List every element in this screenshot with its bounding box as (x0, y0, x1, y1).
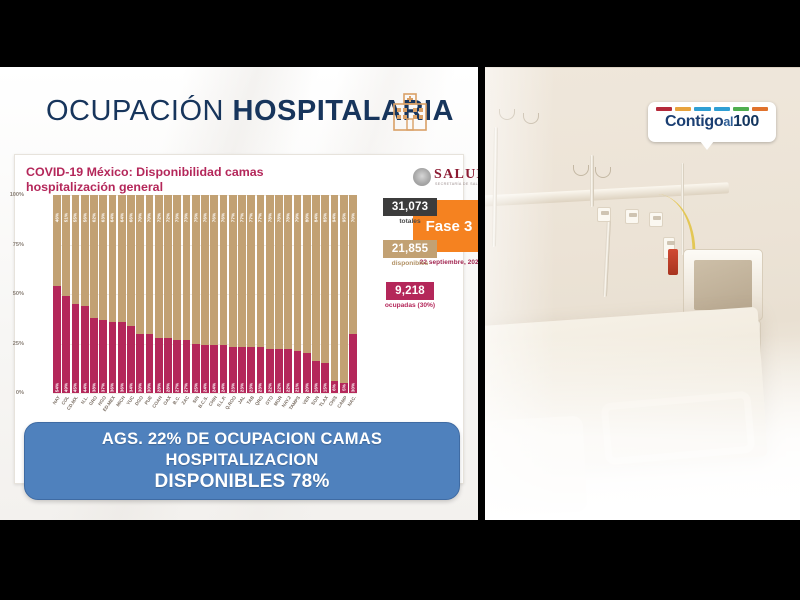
x-axis-tick-label: B.C. (172, 395, 181, 405)
bar-segment-ocupacion: 24% (210, 345, 218, 393)
bar-label-ocupacion: 30% (138, 383, 143, 393)
bar-chart-plot: 100%75%50%25%0% 46%54%NAY51%49%COL55%45%… (27, 195, 357, 430)
chart-bar: 77%23%TAB (247, 195, 255, 393)
y-axis-tick-label: 25% (0, 341, 24, 347)
bar-segment-disponibilidad: 62% (90, 195, 98, 318)
bar-label-disponibilidad: 72% (156, 213, 161, 223)
bar-label-ocupacion: 21% (295, 383, 300, 393)
bar-segment-disponibilidad: 70% (349, 195, 357, 334)
chart-bar: 85%15%TLAX (321, 195, 329, 393)
bar-segment-disponibilidad: 85% (321, 195, 329, 363)
contigo-color-bar (733, 107, 749, 111)
bar-label-ocupacion: 6% (332, 384, 337, 391)
bar-label-disponibilidad: 63% (101, 213, 106, 223)
bar-label-ocupacion: 23% (239, 383, 244, 393)
chart-bar: 46%54%NAY (53, 195, 61, 393)
bar-label-disponibilidad: 76% (221, 213, 226, 223)
chart-bar: 72%28%COAH (155, 195, 163, 393)
bar-label-disponibilidad: 72% (165, 213, 170, 223)
contigo-color-bars (656, 107, 768, 111)
bar-segment-ocupacion: 5% (340, 383, 348, 393)
bar-label-ocupacion: 34% (128, 383, 133, 393)
chart-bar: 84%16%SON (312, 195, 320, 393)
bar-segment-disponibilidad: 56% (81, 195, 89, 306)
x-axis-tick-label: GTO (264, 395, 274, 406)
summary-line-2: HOSPITALIZACION (165, 451, 318, 469)
chart-bar: 64%36%ED.MEX (109, 195, 117, 393)
stat-totales-caption: totales (367, 218, 453, 225)
x-axis-tick-label: DGO (134, 395, 144, 406)
bar-segment-disponibilidad: 70% (136, 195, 144, 334)
chart-bar: 78%22%NAY.2 (284, 195, 292, 393)
chart-bar: 79%21%TAMPS (294, 195, 302, 393)
bar-label-disponibilidad: 56% (82, 213, 87, 223)
bar-label-disponibilidad: 64% (119, 213, 124, 223)
x-axis-tick-label: VER (301, 395, 311, 406)
bar-label-ocupacion: 27% (184, 383, 189, 393)
bar-segment-ocupacion: 30% (146, 334, 154, 393)
bar-label-disponibilidad: 51% (64, 213, 69, 223)
chart-bar: 51%49%COL (62, 195, 70, 393)
bar-segment-disponibilidad: 64% (118, 195, 126, 322)
bar-label-disponibilidad: 77% (249, 213, 254, 223)
bar-segment-ocupacion: 34% (127, 326, 135, 393)
summary-banner: AGS. 22% DE OCUPACION CAMAS HOSPITALIZAC… (24, 422, 460, 500)
contigo-word-1: Contigo (665, 113, 723, 130)
bar-label-ocupacion: 37% (101, 383, 106, 393)
chart-bar: 70%30%PUE (146, 195, 154, 393)
bar-label-disponibilidad: 80% (304, 213, 309, 223)
bar-label-disponibilidad: 55% (73, 213, 78, 223)
contigo-word-2: al (723, 115, 733, 129)
chart-bar: 77%23%QRO (257, 195, 265, 393)
bar-segment-ocupacion: 15% (321, 363, 329, 393)
bar-label-disponibilidad: 94% (332, 213, 337, 223)
bar-label-disponibilidad: 66% (128, 213, 133, 223)
bar-label-ocupacion: 23% (258, 383, 263, 393)
bar-label-ocupacion: 22% (276, 383, 281, 393)
page-title-thin: OCUPACIÓN (46, 95, 233, 127)
bar-segment-ocupacion: 20% (303, 353, 311, 393)
contigo-color-bar (675, 107, 691, 111)
contigo-al-100-logo: Contigoal100 (648, 102, 776, 142)
bar-segment-disponibilidad: 77% (229, 195, 237, 347)
contigo-word-3: 100 (733, 113, 759, 130)
bar-label-ocupacion: 23% (230, 383, 235, 393)
bar-segment-ocupacion: 44% (81, 306, 89, 393)
bar-segment-ocupacion: 25% (192, 344, 200, 394)
bar-segment-ocupacion: 49% (62, 296, 70, 393)
chart-bar: 70%30%NAC. (349, 195, 357, 393)
chart-bar: 76%24%B.C.S. (201, 195, 209, 393)
photo-iv-pole-mid (590, 155, 594, 207)
bar-label-disponibilidad: 70% (350, 213, 355, 223)
bar-label-disponibilidad: 46% (54, 213, 59, 223)
stat-ocupadas: 9,218 ocupadas (30%) (367, 281, 453, 309)
x-axis-tick-label: ZAC (181, 395, 191, 406)
bar-label-disponibilidad: 62% (91, 213, 96, 223)
bar-segment-ocupacion: 6% (331, 381, 339, 393)
photo-wall-outlet-1 (597, 207, 611, 222)
bar-segment-disponibilidad: 51% (62, 195, 70, 296)
chart-bar: 78%22%GTO (266, 195, 274, 393)
photo-monitor-screen (694, 260, 752, 310)
chart-bar: 64%36%MICH (118, 195, 126, 393)
bar-label-ocupacion: 28% (165, 383, 170, 393)
bar-label-disponibilidad: 73% (175, 213, 180, 223)
bar-segment-disponibilidad: 78% (266, 195, 274, 349)
stat-disponibles-value: 21,855 (383, 240, 437, 258)
bar-label-ocupacion: 5% (341, 384, 346, 391)
bar-label-disponibilidad: 73% (184, 213, 189, 223)
bar-segment-disponibilidad: 77% (247, 195, 255, 347)
bar-segment-ocupacion: 23% (238, 347, 246, 393)
chart-bar: 62%38%GRO (90, 195, 98, 393)
bar-label-ocupacion: 24% (212, 383, 217, 393)
bar-label-ocupacion: 25% (193, 383, 198, 393)
stat-totales-value: 31,073 (383, 198, 437, 216)
bar-segment-ocupacion: 30% (349, 334, 357, 393)
presentation-slide: OCUPACIÓN HOSPITALARIA COVID-19 México: … (0, 67, 478, 520)
photo-bottom-fade (485, 335, 800, 520)
chart-bar: 72%28%OAX (164, 195, 172, 393)
chart-bar: 76%24%S.L.P. (220, 195, 228, 393)
bar-label-ocupacion: 22% (267, 383, 272, 393)
bar-segment-disponibilidad: 77% (257, 195, 265, 347)
bar-segment-disponibilidad: 94% (331, 195, 339, 381)
bar-segment-disponibilidad: 76% (220, 195, 228, 345)
bar-segment-ocupacion: 36% (109, 322, 117, 393)
bar-label-disponibilidad: 79% (295, 213, 300, 223)
bar-label-ocupacion: 36% (119, 383, 124, 393)
stat-ocupadas-value: 9,218 (386, 282, 434, 300)
bar-label-disponibilidad: 75% (193, 213, 198, 223)
bar-label-disponibilidad: 77% (258, 213, 263, 223)
stat-disponibles-caption: disponibles (367, 260, 453, 267)
bar-segment-ocupacion: 30% (136, 334, 144, 393)
bar-label-ocupacion: 54% (54, 383, 59, 393)
bar-segment-ocupacion: 28% (164, 338, 172, 393)
stat-ocupadas-caption: ocupadas (30%) (367, 302, 453, 309)
contigo-logo-tail (700, 141, 714, 150)
bar-label-ocupacion: 30% (147, 383, 152, 393)
bar-segment-ocupacion: 21% (294, 351, 302, 393)
bar-segment-disponibilidad: 80% (303, 195, 311, 353)
bar-segment-disponibilidad: 77% (238, 195, 246, 347)
gridline (53, 393, 357, 394)
bar-label-disponibilidad: 77% (239, 213, 244, 223)
bar-segment-ocupacion: 23% (247, 347, 255, 393)
bar-segment-ocupacion: 54% (53, 286, 61, 393)
chart-bar: 77%23%JAL (238, 195, 246, 393)
bar-label-ocupacion: 36% (110, 383, 115, 393)
hospital-room-photo: Contigoal100 (485, 67, 800, 520)
summary-line-3: DISPONIBLES 78% (154, 471, 329, 492)
screenshot-root: OCUPACIÓN HOSPITALARIA COVID-19 México: … (0, 0, 800, 600)
bar-label-ocupacion: 38% (91, 383, 96, 393)
y-axis-tick-label: 100% (0, 192, 24, 198)
bar-segment-ocupacion: 24% (201, 345, 209, 393)
bar-label-ocupacion: 20% (304, 383, 309, 393)
summary-banner-text: AGS. 22% DE OCUPACION CAMAS HOSPITALIZAC… (102, 429, 382, 493)
bar-segment-disponibilidad: 95% (340, 195, 348, 383)
bar-label-disponibilidad: 78% (267, 213, 272, 223)
bar-segment-ocupacion: 27% (173, 340, 181, 393)
bar-label-disponibilidad: 70% (147, 213, 152, 223)
chart-bar: 78%22%MOR (275, 195, 283, 393)
bar-segment-ocupacion: 38% (90, 318, 98, 393)
chart-title: COVID-19 México: Disponibilidad camas ho… (26, 165, 356, 195)
salud-logo: SALUD SECRETARÍA DE SALUD (413, 167, 478, 189)
bar-segment-disponibilidad: 46% (53, 195, 61, 286)
bar-segment-disponibilidad: 73% (173, 195, 181, 340)
bar-label-ocupacion: 30% (350, 383, 355, 393)
x-axis-tick-label: YUC (125, 395, 135, 406)
y-axis-tick-label: 50% (0, 291, 24, 297)
x-axis-tick-label: JAL (237, 395, 246, 405)
bar-segment-disponibilidad: 64% (109, 195, 117, 322)
bar-segment-ocupacion: 37% (99, 320, 107, 393)
chart-bars: 46%54%NAY51%49%COL55%45%CD.MX.56%44%N.L.… (53, 195, 357, 393)
salud-seal-icon (413, 168, 431, 186)
salud-subtitle: SECRETARÍA DE SALUD (435, 182, 478, 186)
bar-segment-disponibilidad: 73% (183, 195, 191, 340)
chart-bar: 66%34%YUC (127, 195, 135, 393)
chart-bar: 95%5%CAMP (340, 195, 348, 393)
chart-bar: 73%27%B.C. (173, 195, 181, 393)
bar-segment-disponibilidad: 72% (164, 195, 172, 338)
bar-segment-ocupacion: 22% (284, 349, 292, 393)
bar-label-ocupacion: 24% (221, 383, 226, 393)
y-axis-tick-label: 0% (0, 390, 24, 396)
bar-segment-disponibilidad: 72% (155, 195, 163, 338)
chart-bar: 73%27%ZAC (183, 195, 191, 393)
bar-label-disponibilidad: 70% (138, 213, 143, 223)
bar-label-ocupacion: 28% (156, 383, 161, 393)
bar-segment-disponibilidad: 76% (201, 195, 209, 345)
salud-wordmark: SALUD (434, 167, 478, 183)
bar-segment-ocupacion: 27% (183, 340, 191, 393)
bar-segment-disponibilidad: 75% (192, 195, 200, 344)
bar-label-ocupacion: 23% (249, 383, 254, 393)
bar-segment-ocupacion: 23% (229, 347, 237, 393)
bar-label-ocupacion: 24% (202, 383, 207, 393)
chart-bar: 80%20%VER (303, 195, 311, 393)
bar-segment-disponibilidad: 55% (72, 195, 80, 304)
contigo-color-bar (752, 107, 768, 111)
bar-label-disponibilidad: 78% (276, 213, 281, 223)
bar-segment-ocupacion: 23% (257, 347, 265, 393)
bar-label-disponibilidad: 78% (286, 213, 291, 223)
chart-bar: 63%37%HGO (99, 195, 107, 393)
summary-line-1: AGS. 22% DE OCUPACION CAMAS (102, 430, 382, 448)
bar-segment-ocupacion: 28% (155, 338, 163, 393)
bar-label-disponibilidad: 85% (323, 213, 328, 223)
bar-label-ocupacion: 45% (73, 383, 78, 393)
chart-bar: 55%45%CD.MX. (72, 195, 80, 393)
bar-label-ocupacion: 44% (82, 383, 87, 393)
bar-segment-ocupacion: 22% (266, 349, 274, 393)
stat-totales: 31,073 totales (367, 197, 453, 225)
hospital-building-icon (392, 92, 428, 132)
bar-label-disponibilidad: 64% (110, 213, 115, 223)
contigo-color-bar (694, 107, 710, 111)
x-axis-tick-label: OAX (162, 395, 172, 406)
bar-segment-disponibilidad: 70% (146, 195, 154, 334)
bar-label-disponibilidad: 76% (212, 213, 217, 223)
bar-label-ocupacion: 27% (175, 383, 180, 393)
bar-label-ocupacion: 22% (286, 383, 291, 393)
x-axis-tick-label: QRO (254, 395, 264, 406)
contigo-color-bar (656, 107, 672, 111)
bar-segment-disponibilidad: 79% (294, 195, 302, 351)
chart-bar: 56%44%N.L. (81, 195, 89, 393)
chart-bar: 75%25%SIN (192, 195, 200, 393)
bar-label-ocupacion: 49% (64, 383, 69, 393)
contigo-color-bar (714, 107, 730, 111)
bar-segment-disponibilidad: 78% (284, 195, 292, 349)
chart-bar: 70%30%DGO (136, 195, 144, 393)
chart-bar: 77%23%Q.ROO (229, 195, 237, 393)
bar-segment-disponibilidad: 76% (210, 195, 218, 345)
x-axis-tick-label: NAC. (346, 395, 357, 407)
chart-bar: 76%24%CHIH (210, 195, 218, 393)
bar-label-ocupacion: 16% (313, 383, 318, 393)
bar-segment-disponibilidad: 78% (275, 195, 283, 349)
bar-segment-ocupacion: 16% (312, 361, 320, 393)
bar-segment-disponibilidad: 66% (127, 195, 135, 326)
bar-segment-ocupacion: 45% (72, 304, 80, 393)
bar-segment-disponibilidad: 63% (99, 195, 107, 320)
bar-label-disponibilidad: 76% (202, 213, 207, 223)
bar-label-disponibilidad: 77% (230, 213, 235, 223)
contigo-wordmark: Contigoal100 (648, 113, 776, 131)
stat-disponibles: 21,855 disponibles (367, 239, 453, 267)
bar-segment-ocupacion: 22% (275, 349, 283, 393)
x-axis-tick-label: NAY (52, 395, 61, 405)
bar-segment-ocupacion: 24% (220, 345, 228, 393)
bar-segment-disponibilidad: 84% (312, 195, 320, 361)
bar-label-ocupacion: 15% (323, 383, 328, 393)
bar-segment-ocupacion: 36% (118, 322, 126, 393)
x-axis-tick-label: GRO (88, 395, 98, 406)
bar-label-disponibilidad: 84% (313, 213, 318, 223)
y-axis-tick-label: 75% (0, 242, 24, 248)
chart-bar: 94%6%CHIS (331, 195, 339, 393)
photo-emergency-switch (668, 249, 678, 275)
bar-label-disponibilidad: 95% (341, 213, 346, 223)
